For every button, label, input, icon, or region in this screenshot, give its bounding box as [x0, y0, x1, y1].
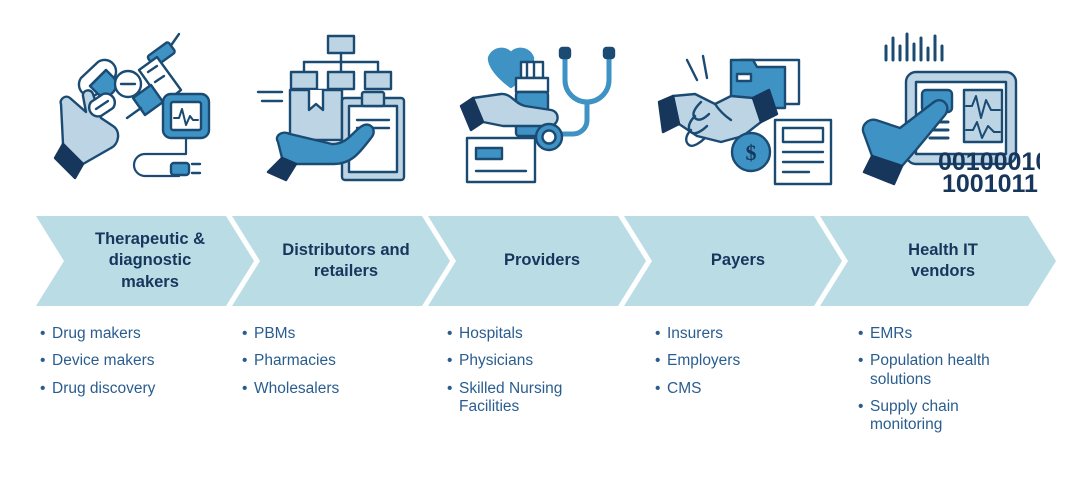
list-item: • Pharmacies	[242, 352, 427, 370]
bullet-marker: •	[655, 380, 667, 398]
bullet-marker: •	[858, 352, 870, 370]
chevron-health-it-vendors[interactable]: Health IT vendors	[820, 216, 1056, 306]
chevron-distributors-retailers[interactable]: Distributors and retailers	[232, 216, 450, 306]
chevron-label-therapeutic-diagnostic-makers: Therapeutic & diagnostic makers	[69, 229, 221, 292]
bullet-marker: •	[447, 352, 459, 370]
bullet-marker: •	[447, 380, 459, 398]
list-item: • Population health solutions	[858, 352, 1018, 389]
bullet-list-providers: • Hospitals • Physicians • Skilled Nursi…	[447, 325, 617, 425]
icon-cell-therapeutic-diagnostic-makers	[36, 22, 239, 202]
list-item: • Wholesalers	[242, 380, 427, 398]
list-item: • Skilled Nursing Facilities	[447, 380, 617, 417]
handshake-folder-coin-document-icon: $	[657, 32, 837, 192]
chevron-label-payers: Payers	[685, 250, 781, 271]
chevron-payers[interactable]: Payers	[624, 216, 842, 306]
chevron-label-health-it-vendors: Health IT vendors	[882, 240, 994, 282]
bullet-marker: •	[40, 352, 52, 370]
list-item: • Drug discovery	[40, 380, 225, 398]
list-item-label: Physicians	[459, 352, 617, 370]
bullet-list-distributors-retailers: • PBMs • Pharmacies • Wholesalers	[242, 325, 427, 407]
chevron-label-distributors-retailers: Distributors and retailers	[256, 240, 425, 282]
list-item: • CMS	[655, 380, 825, 398]
icon-cell-providers	[442, 22, 645, 202]
list-item: • Hospitals	[447, 325, 617, 343]
bullet-marker: •	[40, 325, 52, 343]
bullet-list-health-it-vendors: • EMRs • Population health solutions • S…	[858, 325, 1018, 443]
list-item: • Employers	[655, 352, 825, 370]
list-item: • EMRs	[858, 325, 1018, 343]
list-item-label: Drug discovery	[52, 380, 225, 398]
list-item-label: EMRs	[870, 325, 1018, 343]
binary-line-2: 1001011	[942, 170, 1038, 195]
chevron-label-providers: Providers	[478, 250, 596, 271]
bullet-marker: •	[655, 325, 667, 343]
list-item: • Insurers	[655, 325, 825, 343]
chevron-providers[interactable]: Providers	[428, 216, 646, 306]
list-item-label: Insurers	[667, 325, 825, 343]
icon-cell-distributors-retailers	[239, 22, 442, 202]
list-item-label: Wholesalers	[254, 380, 427, 398]
hand-heart-inhaler-stethoscope-icon	[459, 32, 629, 192]
bullet-marker: •	[40, 380, 52, 398]
icon-cell-health-it-vendors: 00100010 1001011	[848, 22, 1051, 202]
bullet-marker: •	[447, 325, 459, 343]
list-item: • Device makers	[40, 352, 225, 370]
chevron-therapeutic-diagnostic-makers[interactable]: Therapeutic & diagnostic makers	[36, 216, 254, 306]
list-item-label: CMS	[667, 380, 825, 398]
list-item-label: Drug makers	[52, 325, 225, 343]
icon-row: $	[0, 22, 1080, 202]
list-item: • PBMs	[242, 325, 427, 343]
list-item-label: Device makers	[52, 352, 225, 370]
coin-dollar-symbol: $	[745, 140, 756, 165]
list-item-label: Population health solutions	[870, 352, 1018, 389]
icon-cell-payers: $	[645, 22, 848, 202]
chevron-band: Therapeutic & diagnostic makers Distribu…	[0, 216, 1080, 306]
list-item: • Drug makers	[40, 325, 225, 343]
list-item: • Supply chain monitoring	[858, 398, 1018, 435]
hand-pills-syringe-monitor-icon	[53, 32, 223, 192]
bullet-lists-row: • Drug makers • Device makers • Drug dis…	[0, 325, 1080, 485]
bullet-marker: •	[242, 325, 254, 343]
list-item-label: Pharmacies	[254, 352, 427, 370]
list-item-label: PBMs	[254, 325, 427, 343]
list-item-label: Employers	[667, 352, 825, 370]
bullet-marker: •	[858, 325, 870, 343]
list-item-label: Skilled Nursing Facilities	[459, 380, 617, 417]
hand-tablet-waveform-binary-icon: 00100010 1001011	[860, 30, 1040, 195]
hand-package-clipboard-orgchart-icon	[256, 30, 426, 195]
healthcare-value-chain-diagram: $	[0, 0, 1080, 494]
bullet-marker: •	[242, 380, 254, 398]
list-item: • Physicians	[447, 352, 617, 370]
bullet-marker: •	[858, 398, 870, 416]
bullet-marker: •	[242, 352, 254, 370]
list-item-label: Hospitals	[459, 325, 617, 343]
bullet-list-payers: • Insurers • Employers • CMS	[655, 325, 825, 407]
list-item-label: Supply chain monitoring	[870, 398, 1018, 435]
bullet-list-therapeutic-diagnostic-makers: • Drug makers • Device makers • Drug dis…	[40, 325, 225, 407]
bullet-marker: •	[655, 352, 667, 370]
